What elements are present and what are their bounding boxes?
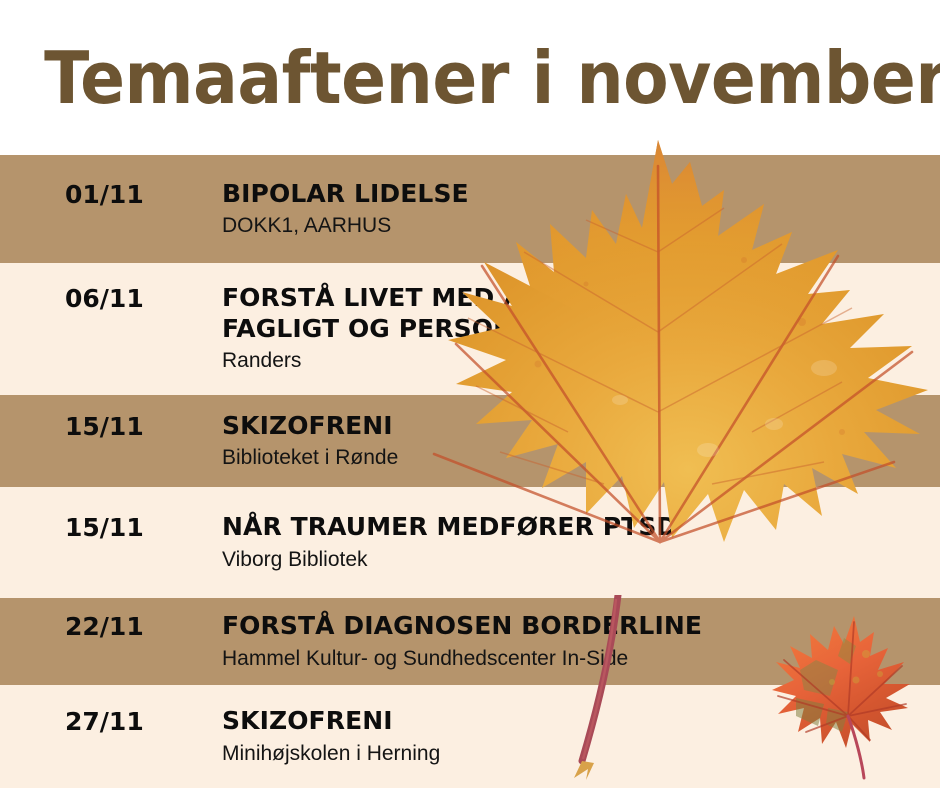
page-title: Temaaftener i november	[0, 42, 940, 114]
event-row: 15/11NÅR TRAUMER MEDFØRER PTSDViborg Bib…	[0, 487, 940, 598]
event-row-inner: 22/11FORSTÅ DIAGNOSEN BORDERLINEHammel K…	[0, 611, 940, 672]
poster-header: Temaaftener i november	[0, 0, 940, 155]
event-row: 06/11FORSTÅ LIVET MED AUTISME UD FRA ET …	[0, 263, 940, 395]
event-details: FORSTÅ LIVET MED AUTISME UD FRA ET FAGLI…	[222, 283, 940, 374]
event-location: Hammel Kultur- og Sundhedscenter In-Side	[222, 645, 940, 672]
event-details: FORSTÅ DIAGNOSEN BORDERLINEHammel Kultur…	[222, 611, 940, 672]
event-row: 01/11BIPOLAR LIDELSEDOKK1, AARHUS	[0, 155, 940, 263]
event-details: NÅR TRAUMER MEDFØRER PTSDViborg Bibliote…	[222, 512, 940, 573]
event-title: SKIZOFRENI	[222, 411, 940, 442]
event-details: BIPOLAR LIDELSEDOKK1, AARHUS	[222, 179, 940, 240]
event-details: SKIZOFRENIMinihøjskolen i Herning	[222, 706, 940, 767]
event-location: Viborg Bibliotek	[222, 546, 940, 573]
event-details: SKIZOFRENIBiblioteket i Rønde	[222, 411, 940, 472]
event-list: 01/11BIPOLAR LIDELSEDOKK1, AARHUS06/11FO…	[0, 155, 940, 788]
event-date: 15/11	[65, 411, 222, 442]
event-row-inner: 15/11SKIZOFRENIBiblioteket i Rønde	[0, 411, 940, 472]
poster-root: Temaaftener i november 01/11BIPOLAR LIDE…	[0, 0, 940, 788]
event-title: FORSTÅ LIVET MED AUTISME UD FRA ET FAGLI…	[222, 283, 940, 344]
event-date: 01/11	[65, 179, 222, 210]
event-title: SKIZOFRENI	[222, 706, 940, 737]
event-location: Biblioteket i Rønde	[222, 444, 940, 471]
event-title: FORSTÅ DIAGNOSEN BORDERLINE	[222, 611, 940, 642]
event-title: NÅR TRAUMER MEDFØRER PTSD	[222, 512, 940, 543]
event-row-inner: 15/11NÅR TRAUMER MEDFØRER PTSDViborg Bib…	[0, 512, 940, 573]
event-row: 15/11SKIZOFRENIBiblioteket i Rønde	[0, 395, 940, 487]
event-row: 27/11SKIZOFRENIMinihøjskolen i Herning	[0, 685, 940, 788]
event-location: Minihøjskolen i Herning	[222, 740, 940, 767]
event-title: BIPOLAR LIDELSE	[222, 179, 940, 210]
event-date: 15/11	[65, 512, 222, 543]
event-location: Randers	[222, 347, 940, 374]
event-date: 27/11	[65, 706, 222, 737]
event-row-inner: 01/11BIPOLAR LIDELSEDOKK1, AARHUS	[0, 179, 940, 240]
event-row-inner: 27/11SKIZOFRENIMinihøjskolen i Herning	[0, 706, 940, 767]
event-date: 06/11	[65, 283, 222, 314]
event-location: DOKK1, AARHUS	[222, 212, 940, 239]
event-row: 22/11FORSTÅ DIAGNOSEN BORDERLINEHammel K…	[0, 598, 940, 685]
event-date: 22/11	[65, 611, 222, 642]
event-row-inner: 06/11FORSTÅ LIVET MED AUTISME UD FRA ET …	[0, 283, 940, 374]
